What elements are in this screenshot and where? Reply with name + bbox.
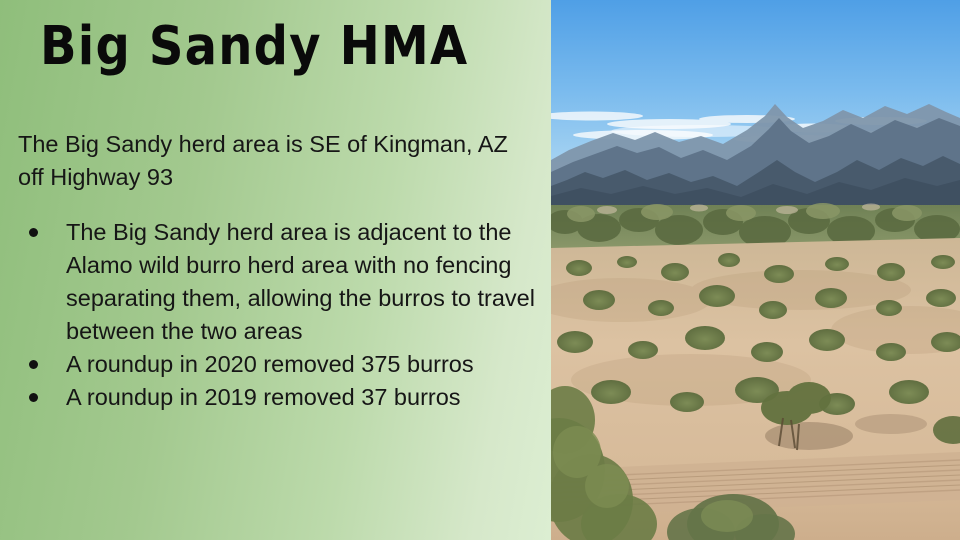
slide-text-panel: Big Sandy HMA The Big Sandy herd area is… (0, 0, 551, 540)
list-item-label: A roundup in 2020 removed 375 burros (66, 351, 474, 377)
bullet-dot-icon (29, 360, 38, 369)
intro-paragraph: The Big Sandy herd area is SE of Kingman… (18, 128, 534, 194)
list-item: The Big Sandy herd area is adjacent to t… (18, 216, 538, 348)
desert-landscape-photo (551, 0, 960, 540)
page-title: Big Sandy HMA (40, 18, 468, 74)
list-item: A roundup in 2019 removed 37 burros (18, 381, 538, 414)
list-item-label: The Big Sandy herd area is adjacent to t… (66, 219, 535, 344)
landscape-illustration (551, 0, 960, 540)
bullet-dot-icon (29, 393, 38, 402)
list-item: A roundup in 2020 removed 375 burros (18, 348, 538, 381)
bullet-dot-icon (29, 228, 38, 237)
presentation-slide: Big Sandy HMA The Big Sandy herd area is… (0, 0, 960, 540)
list-item-label: A roundup in 2019 removed 37 burros (66, 384, 461, 410)
bullet-list: The Big Sandy herd area is adjacent to t… (18, 216, 538, 414)
